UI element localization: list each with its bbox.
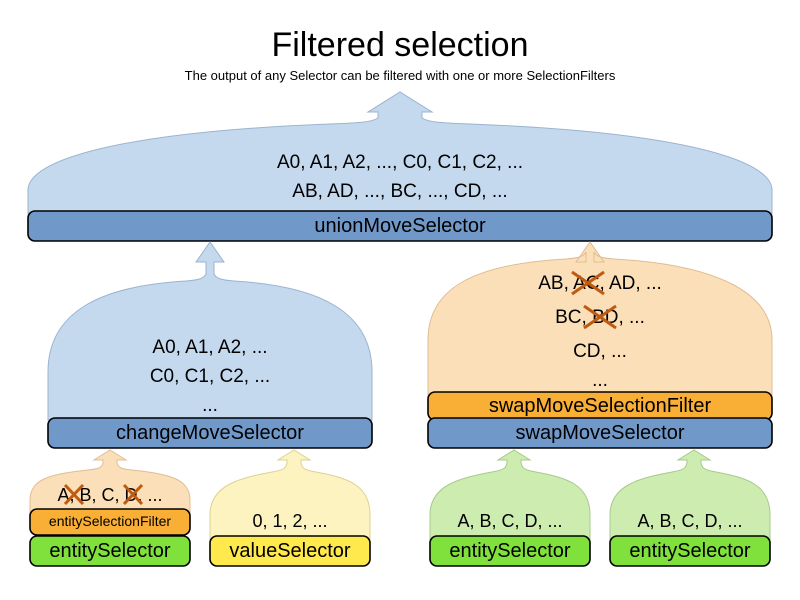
- swap-output-line-2: BC, BD, ...: [428, 303, 772, 332]
- entity-selector-swap-left-label[interactable]: entitySelector: [430, 541, 590, 561]
- entity-selector-swap-right-label[interactable]: entitySelector: [610, 541, 770, 561]
- diagram-canvas: Filtered selection The output of any Sel…: [0, 0, 800, 600]
- swap-move-selection-filter-label[interactable]: swapMoveSelectionFilter: [428, 396, 772, 416]
- union-output-line-2: AB, AD, ..., BC, ..., CD, ...: [28, 177, 772, 206]
- change-output-line-3: ...: [48, 391, 372, 420]
- union-move-selector-label[interactable]: unionMoveSelector: [28, 216, 772, 236]
- change-move-selector-label[interactable]: changeMoveSelector: [48, 423, 372, 443]
- change-output-line-1: A0, A1, A2, ...: [48, 333, 372, 362]
- swap-move-selector-label[interactable]: swapMoveSelector: [428, 423, 772, 443]
- swap-output-line-3: CD, ...: [428, 337, 772, 366]
- entity-selector-filtered-label[interactable]: entitySelector: [30, 541, 190, 561]
- union-output-line-1: A0, A1, A2, ..., C0, C1, C2, ...: [28, 148, 772, 177]
- entity-swap-left-output-line-1: A, B, C, D, ...: [430, 508, 590, 534]
- page-title: Filtered selection: [0, 26, 800, 65]
- swap-output-line-4: ...: [428, 366, 772, 395]
- page-subtitle: The output of any Selector can be filter…: [0, 68, 800, 83]
- value-selector-label[interactable]: valueSelector: [210, 541, 370, 561]
- entity-selection-filter-label[interactable]: entitySelectionFilter: [30, 514, 190, 528]
- entity-swap-right-output-line-1: A, B, C, D, ...: [610, 508, 770, 534]
- change-output-line-2: C0, C1, C2, ...: [48, 362, 372, 391]
- swap-output-line-1: AB, AC, AD, ...: [428, 269, 772, 298]
- entity-filtered-output-line-1: A, B, C, D, ...: [30, 482, 190, 508]
- value-output-line-1: 0, 1, 2, ...: [210, 508, 370, 534]
